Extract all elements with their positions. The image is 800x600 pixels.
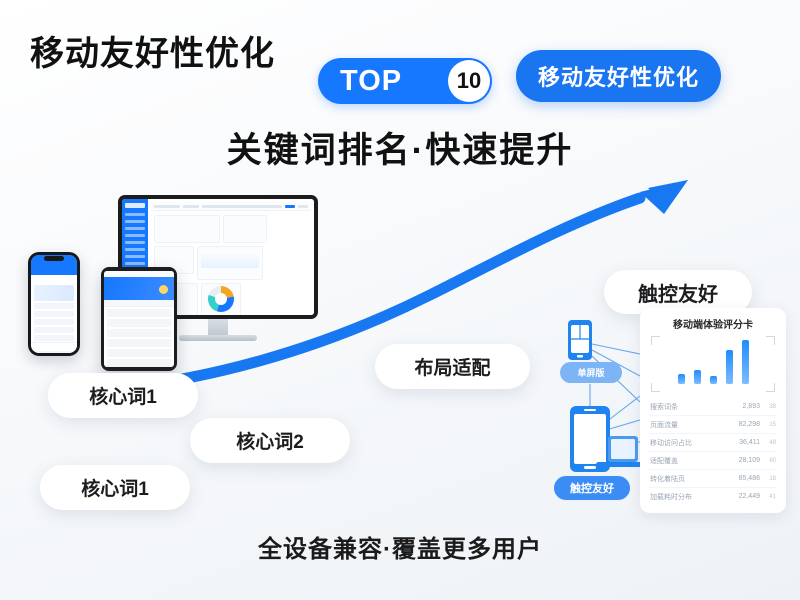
phone-notch [44, 256, 64, 261]
keyword-pill-3[interactable]: 核心词1 [40, 465, 190, 510]
table-row: 转化着陆页 85,486 18 [649, 470, 777, 488]
phone-search-bar [35, 276, 73, 283]
table-row: 搜索词条 2,893 38 [649, 398, 777, 416]
row-delta: 60 [760, 458, 776, 464]
page-subtitle: 关键词排名·快速提升 [0, 122, 800, 173]
tablet-mockup [101, 267, 177, 371]
table-row: 适配覆盖 28,109 60 [649, 452, 777, 470]
row-delta: 18 [760, 476, 776, 482]
row-value: 82,298 [734, 421, 760, 428]
phone-banner [34, 285, 74, 301]
tablet-tabs [104, 300, 174, 307]
scorecard-bars [649, 340, 777, 384]
row-name: 转化着陆页 [650, 474, 734, 484]
row-value: 28,109 [734, 457, 760, 464]
row-name: 页面流量 [650, 420, 734, 430]
device-mockups [28, 195, 338, 375]
top-rank-badge: TOP 10 [318, 58, 492, 104]
tablet-banner [104, 277, 174, 300]
row-delta: 38 [760, 404, 776, 410]
page-title: 移动友好性优化 [30, 26, 275, 75]
feature-pill-layout[interactable]: 布局适配 [375, 344, 530, 389]
row-name: 搜索词条 [650, 402, 734, 412]
row-delta: 15 [760, 422, 776, 428]
touch-diagram: 单屏版 触控友好 移动端体验评分卡 搜索词条 2,893 38 页面流量 82 [548, 310, 788, 515]
keyword-pill-2[interactable]: 核心词2 [190, 418, 350, 463]
scorecard-rows: 搜索词条 2,893 38 页面流量 82,298 15 移动访问占比 36,4… [649, 398, 777, 505]
row-value: 36,411 [734, 439, 760, 446]
row-delta: 48 [760, 440, 776, 446]
row-delta: 41 [760, 494, 776, 500]
monitor-neck [208, 319, 228, 335]
footer-tagline: 全设备兼容·覆盖更多用户 [0, 529, 800, 564]
row-name: 移动访问占比 [650, 438, 734, 448]
row-value: 85,486 [734, 475, 760, 482]
scorecard-title: 移动端体验评分卡 [649, 316, 777, 331]
table-row: 加载耗时分布 22,449 41 [649, 488, 777, 505]
phone-mockup [28, 252, 80, 356]
row-name: 加载耗时分布 [650, 492, 734, 502]
scorecard-chart [649, 336, 777, 392]
row-value: 2,893 [734, 403, 760, 410]
keyword-pill-1[interactable]: 核心词1 [48, 373, 198, 418]
phone-tab-bar [31, 342, 77, 351]
table-row: 页面流量 82,298 15 [649, 416, 777, 434]
diagram-pill-single-screen[interactable]: 单屏版 [560, 362, 622, 383]
table-row: 移动访问占比 36,411 48 [649, 434, 777, 452]
top-badge-number: 10 [448, 60, 490, 102]
mobile-experience-scorecard: 移动端体验评分卡 搜索词条 2,893 38 页面流量 82,298 15 [640, 308, 786, 513]
row-name: 适配覆盖 [650, 456, 734, 466]
dashboard-topbar [151, 202, 311, 211]
row-value: 22,449 [734, 493, 760, 500]
diagram-small-phone [568, 320, 592, 360]
header-tag-pill: 移动友好性优化 [516, 50, 721, 102]
donut-chart [208, 286, 234, 312]
top-badge-word: TOP [340, 65, 402, 98]
diagram-pill-touch[interactable]: 触控友好 [554, 476, 630, 500]
monitor-base [179, 335, 257, 341]
